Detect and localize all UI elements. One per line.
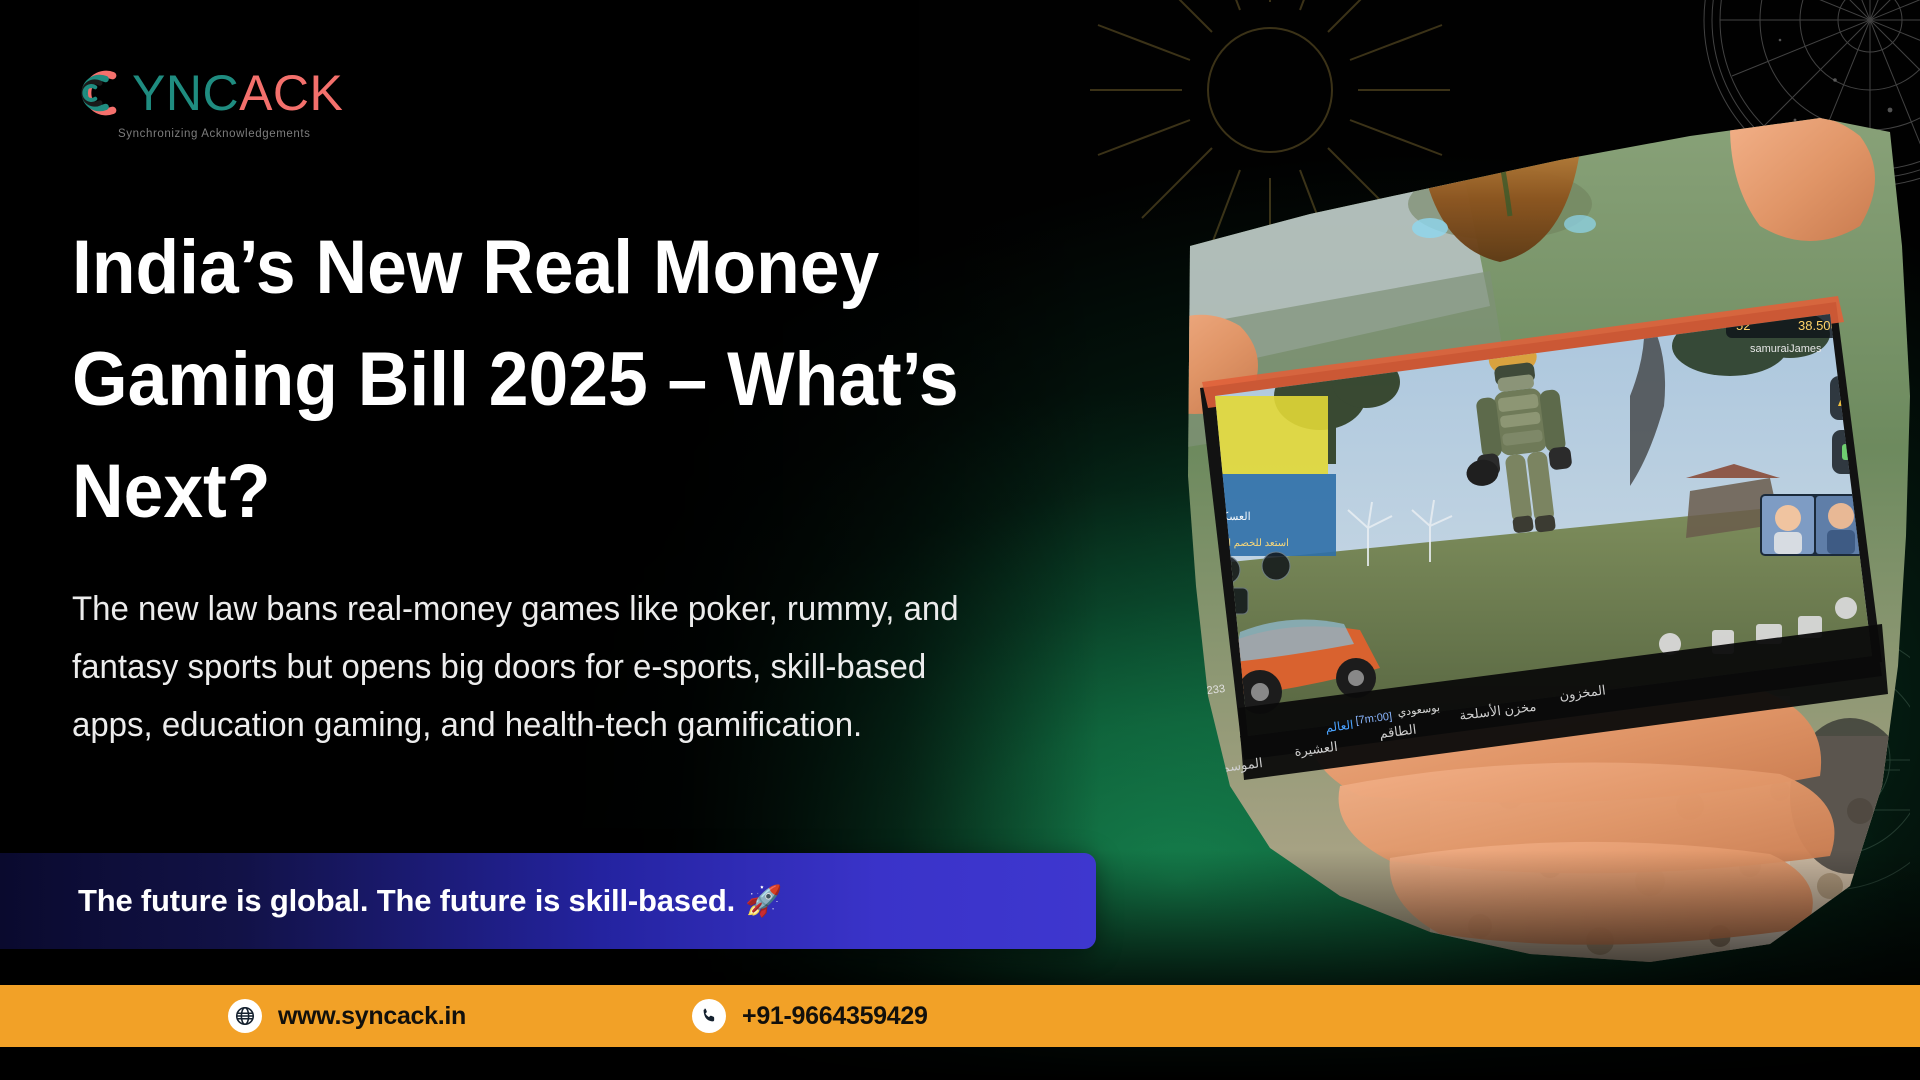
poster-canvas: العسكرية استعد للخصم النقدي 52 38.500 sa… [0,0,1920,1080]
contact-footer: www.syncack.in +91-9664359429 [0,985,1920,1047]
rocket-icon: 🚀 [745,885,782,918]
logo-tagline: Synchronizing Acknowledgements [118,128,402,140]
logo-row: YNCACK [72,62,402,124]
syncack-swirl-icon [72,64,130,122]
highlight-banner: The future is global. The future is skil… [0,853,1096,949]
logo-wordmark: YNCACK [132,64,343,122]
footer-website-text: www.syncack.in [278,1002,466,1031]
logo-text-coral: ACK [239,65,343,121]
footer-phone-text: +91-9664359429 [742,1002,928,1031]
hero-photo: العسكرية استعد للخصم النقدي 52 38.500 sa… [1130,96,1920,976]
globe-icon [228,999,262,1033]
highlight-banner-text: The future is global. The future is skil… [78,883,782,919]
svg-text:samuraiJames: samuraiJames [1750,343,1822,355]
footer-website[interactable]: www.syncack.in [228,999,466,1033]
logo-text-teal: YNC [132,65,239,121]
brand-logo[interactable]: YNCACK Synchronizing Acknowledgements [72,62,402,148]
footer-phone[interactable]: +91-9664359429 [692,999,928,1033]
hero-subtext: The new law bans real-money games like p… [72,580,994,754]
highlight-banner-label: The future is global. The future is skil… [78,883,735,918]
phone-gaming-photo: العسكرية استعد للخصم النقدي 52 38.500 sa… [1130,96,1920,976]
page-title: India’s New Real Money Gaming Bill 2025 … [72,212,1078,548]
phone-icon [692,999,726,1033]
